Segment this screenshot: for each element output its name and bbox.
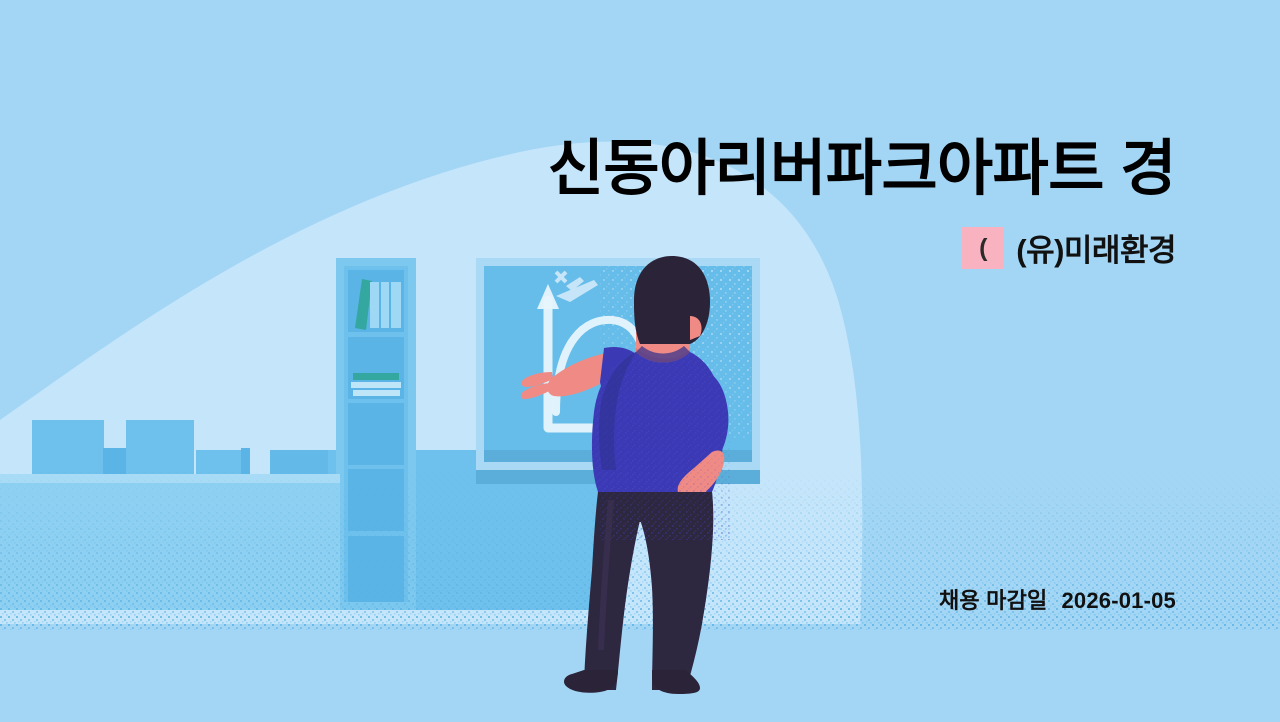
company-row: ( (유)미래환경 xyxy=(962,225,1176,270)
company-name: (유)미래환경 xyxy=(1016,225,1176,270)
company-logo: ( xyxy=(962,227,1004,269)
deadline-label: 채용 마감일 xyxy=(939,583,1048,615)
page-title: 신동아리버파크아파트 경 xyxy=(0,136,1176,201)
job-posting-poster: 신동아리버파크아파트 경 ( (유)미래환경 채용 마감일 2026-01-05 xyxy=(0,0,1280,722)
shelf-books-top xyxy=(355,279,401,330)
deadline-date: 2026-01-05 xyxy=(1061,588,1176,614)
shelf-books-stack xyxy=(351,373,401,396)
deadline-row: 채용 마감일 2026-01-05 xyxy=(939,583,1176,615)
ground-band xyxy=(0,624,1280,722)
